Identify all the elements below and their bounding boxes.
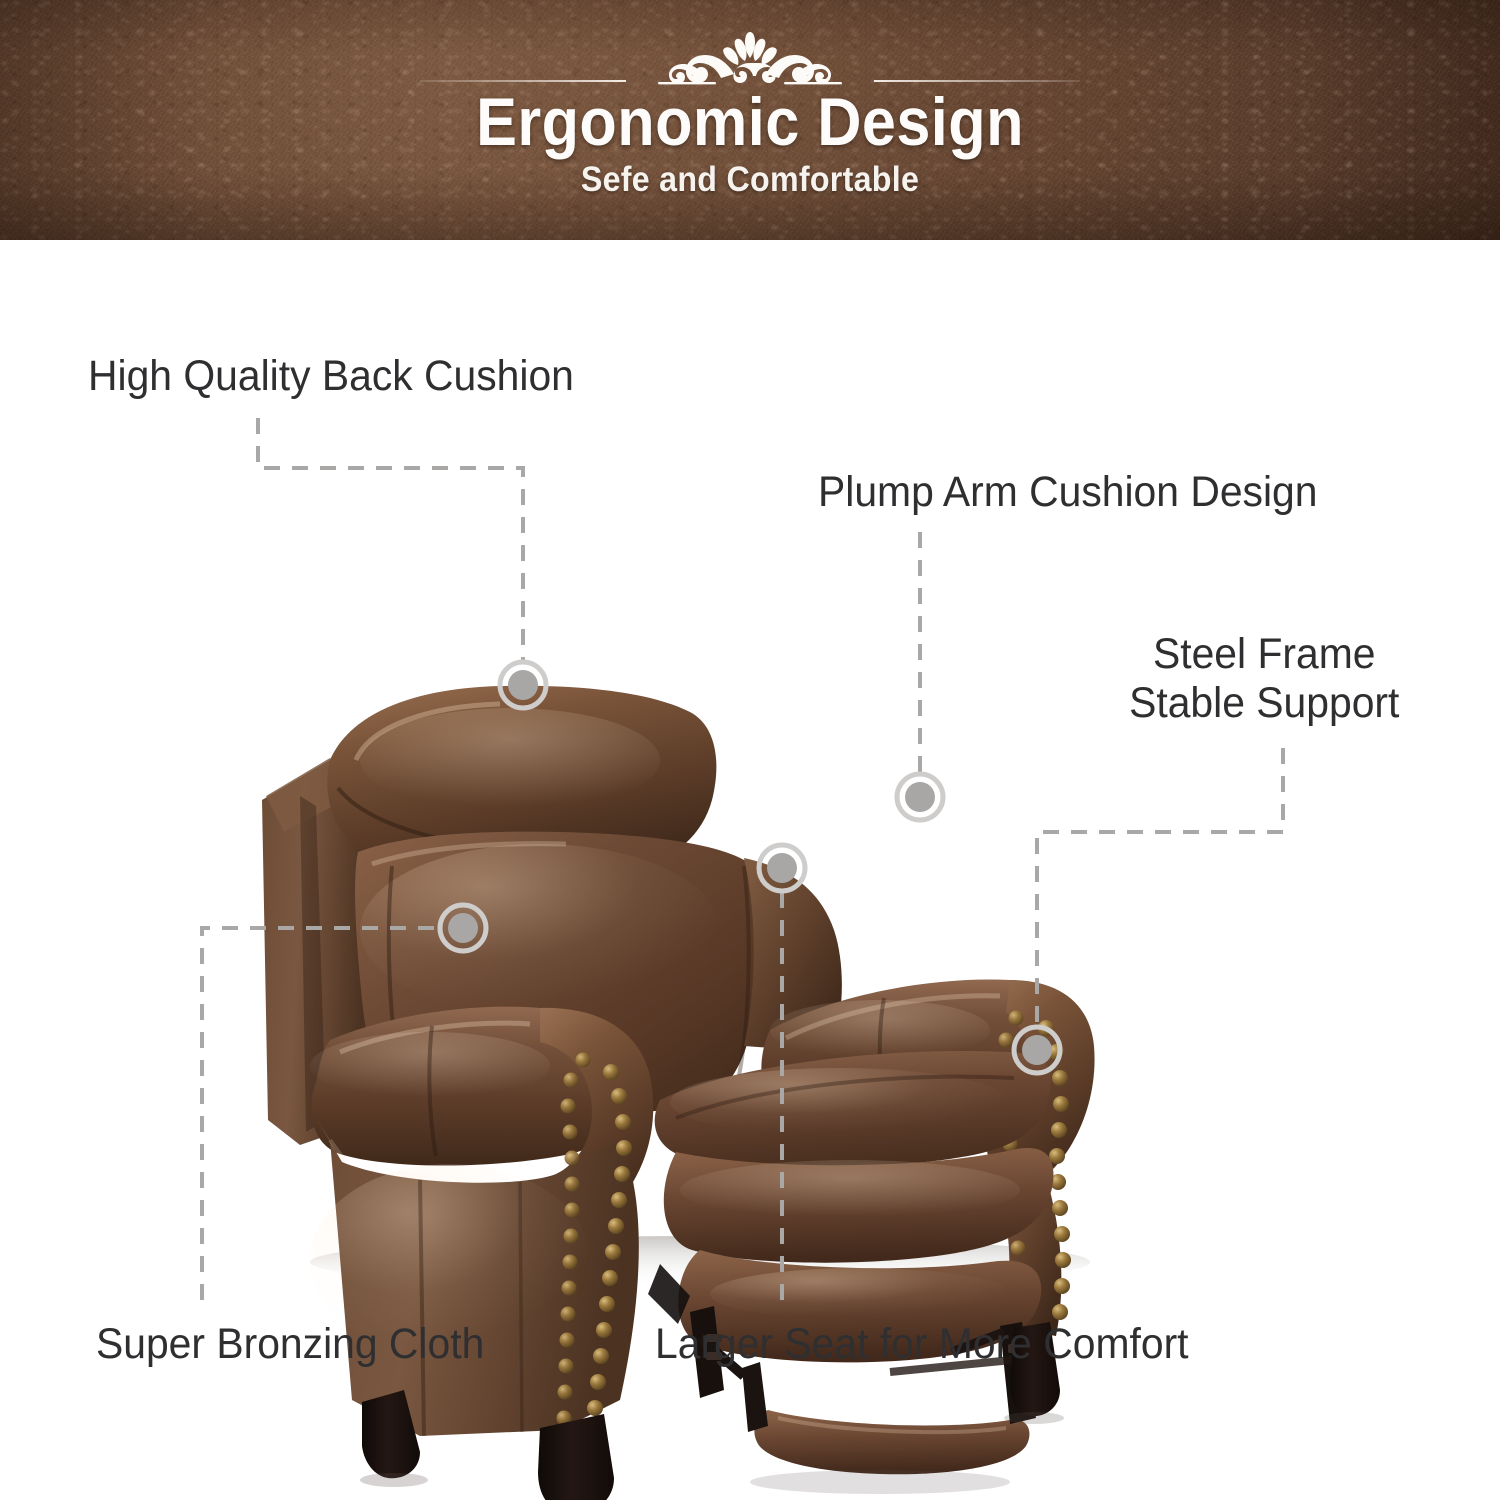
footrest-sheen xyxy=(710,1268,1010,1320)
page-title: Ergonomic Design xyxy=(75,88,1425,156)
flourish-divider-icon xyxy=(612,30,888,92)
divider-rule-left xyxy=(420,80,626,82)
legrest-shadow xyxy=(750,1470,1010,1494)
callout-label-larger-seat: Larger Seat for More Comfort xyxy=(655,1320,1189,1369)
leg-front-left xyxy=(538,1414,614,1500)
recliner-chair-illustration xyxy=(0,240,1500,1500)
headrest-sheen xyxy=(360,708,660,812)
header-banner: Ergonomic Design Sefe and Comfortable xyxy=(0,0,1500,240)
product-stage: High Quality Back CushionPlump Arm Cushi… xyxy=(0,240,1500,1500)
ornament-divider xyxy=(0,18,1500,92)
seat-front-sheen xyxy=(680,1160,1020,1220)
page-subtitle: Sefe and Comfortable xyxy=(60,160,1440,200)
callout-label-bronzing-cloth: Super Bronzing Cloth xyxy=(96,1320,484,1369)
leg-shadow-c xyxy=(1004,1412,1064,1424)
side-panel-seam-b xyxy=(520,1182,522,1432)
callout-label-steel-frame: Steel Frame Stable Support xyxy=(1129,630,1399,728)
divider-rule-right xyxy=(874,80,1080,82)
callout-label-arm-cushion: Plump Arm Cushion Design xyxy=(818,468,1318,517)
callout-label-back-cushion: High Quality Back Cushion xyxy=(88,352,574,401)
infographic-page: Ergonomic Design Sefe and Comfortable xyxy=(0,0,1500,1500)
back-cushion-sheen xyxy=(360,844,720,1016)
leg-shadow-a xyxy=(360,1473,428,1487)
